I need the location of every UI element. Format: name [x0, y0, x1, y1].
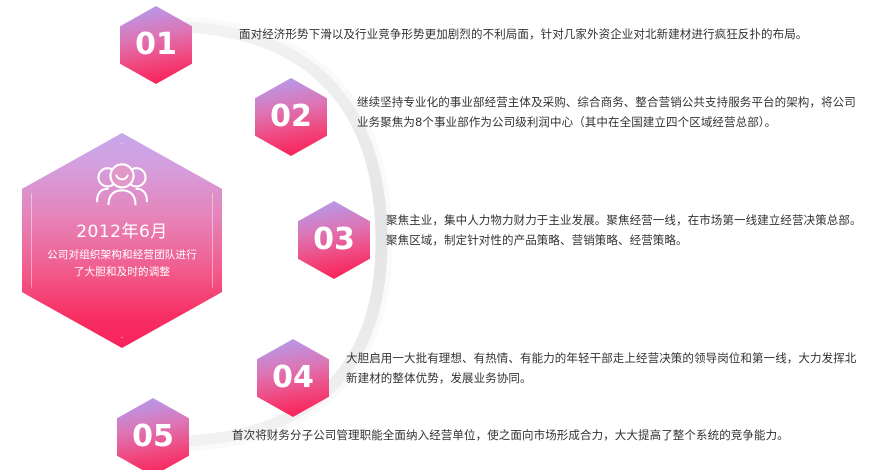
step-text-04: 大胆启用一大批有理想、有热情、有能力的年轻干部走上经营决策的领导岗位和第一线，大…: [346, 348, 864, 388]
step-text-03: 聚焦主业，集中人力物力财力于主业发展。聚焦经营一线，在市场第一线建立经营决策总部…: [386, 210, 864, 250]
step-badge-01-number: 01: [120, 6, 192, 84]
step-text-05: 首次将财务分子公司管理职能全面纳入经营单位，使之面向市场形成合力，大大提高了整个…: [232, 425, 864, 445]
center-card-date: 2012年6月: [76, 217, 168, 242]
step-badge-04-number: 04: [257, 339, 329, 417]
step-badge-02[interactable]: 02: [255, 78, 327, 156]
center-summary-card: 2012年6月 公司对组织架构和经营团队进行了大胆和及时的调整: [22, 133, 222, 348]
infographic-canvas: 2012年6月 公司对组织架构和经营团队进行了大胆和及时的调整 01 面对经济形…: [0, 0, 870, 470]
center-card-description: 公司对组织架构和经营团队进行了大胆和及时的调整: [46, 247, 198, 281]
step-badge-05-number: 05: [117, 398, 189, 470]
step-badge-05[interactable]: 05: [117, 398, 189, 470]
step-text-02: 继续坚持专业化的事业部经营主体及采购、综合商务、整合营销公共支持服务平台的架构，…: [357, 92, 862, 132]
step-badge-01[interactable]: 01: [120, 6, 192, 84]
step-text-01: 面对经济形势下滑以及行业竞争形势更加剧烈的不利局面，针对几家外资企业对北新建材进…: [239, 24, 864, 44]
people-group-icon: [91, 161, 153, 209]
step-badge-03-number: 03: [298, 201, 370, 279]
step-badge-02-number: 02: [255, 78, 327, 156]
step-badge-03[interactable]: 03: [298, 201, 370, 279]
step-badge-04[interactable]: 04: [257, 339, 329, 417]
